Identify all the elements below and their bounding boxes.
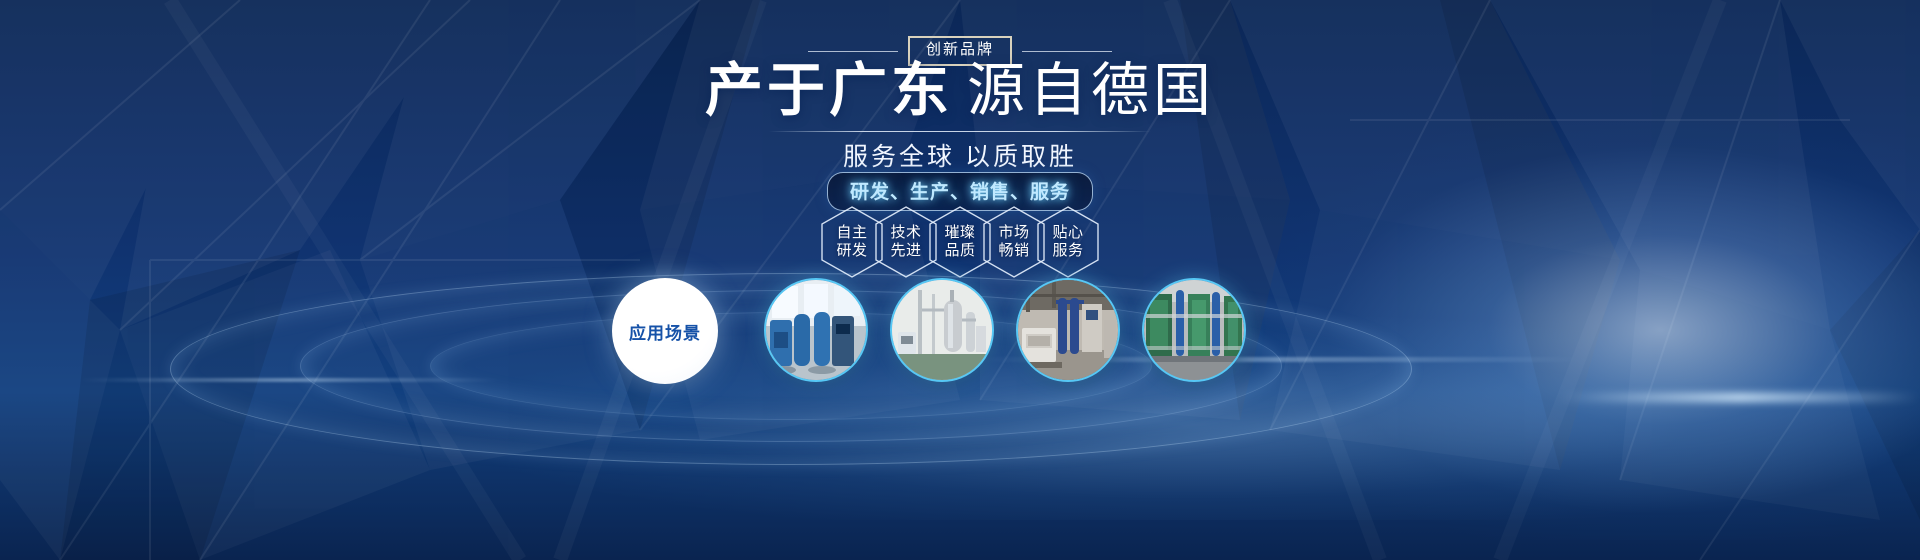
feature-hexagon-row: 自主 研发 技术 先进 璀璨 品质: [0, 205, 1920, 279]
banner-content: 创新品牌 产于广东源自德国 服务全球 以质取胜 研发、生产、销售、服务 自主 研…: [0, 0, 1920, 560]
photo-air-separation-tank[interactable]: [890, 278, 994, 382]
hexagon-label-line1: 璀璨: [944, 224, 975, 242]
hexagon-label: 贴心 服务: [1052, 224, 1083, 260]
hexagon-label: 技术 先进: [890, 224, 921, 260]
hexagon-label: 璀璨 品质: [944, 224, 975, 260]
hexagon-label-line1: 技术: [890, 224, 921, 242]
photo-plant-piping-equipment[interactable]: [1016, 278, 1120, 382]
application-scene-row: 应用场景: [0, 278, 1920, 428]
hexagon-label-line1: 自主: [836, 224, 867, 242]
photo-nitrogen-generator-workshop[interactable]: [764, 278, 868, 382]
hexagon-label-line1: 市场: [998, 224, 1029, 242]
badge-rule-left: [808, 51, 898, 52]
application-scene-label-text: 应用场景: [629, 319, 701, 344]
hexagon-label: 自主 研发: [836, 224, 867, 260]
hexagon-label-line2: 畅销: [998, 242, 1029, 260]
hexagon-feature-5[interactable]: 贴心 服务: [1036, 205, 1100, 279]
headline-bold: 产于广东: [705, 58, 953, 123]
headline-light: 源自德国: [967, 58, 1215, 123]
hexagon-label-line2: 研发: [836, 242, 867, 260]
badge-rule-right: [1022, 51, 1112, 52]
headline-divider: [769, 131, 1151, 132]
hero-banner: 创新品牌 产于广东源自德国 服务全球 以质取胜 研发、生产、销售、服务 自主 研…: [0, 0, 1920, 560]
photo-green-psa-units[interactable]: [1142, 278, 1246, 382]
hexagon-label-line2: 服务: [1052, 242, 1083, 260]
hexagon-label-line2: 品质: [944, 242, 975, 260]
hexagon-label-line2: 先进: [890, 242, 921, 260]
subtitle: 服务全球 以质取胜: [0, 137, 1920, 173]
hexagon-label: 市场 畅销: [998, 224, 1029, 260]
hexagon-label-line1: 贴心: [1052, 224, 1083, 242]
application-scene-label[interactable]: 应用场景: [612, 278, 718, 384]
headline: 产于广东源自德国: [0, 62, 1920, 120]
